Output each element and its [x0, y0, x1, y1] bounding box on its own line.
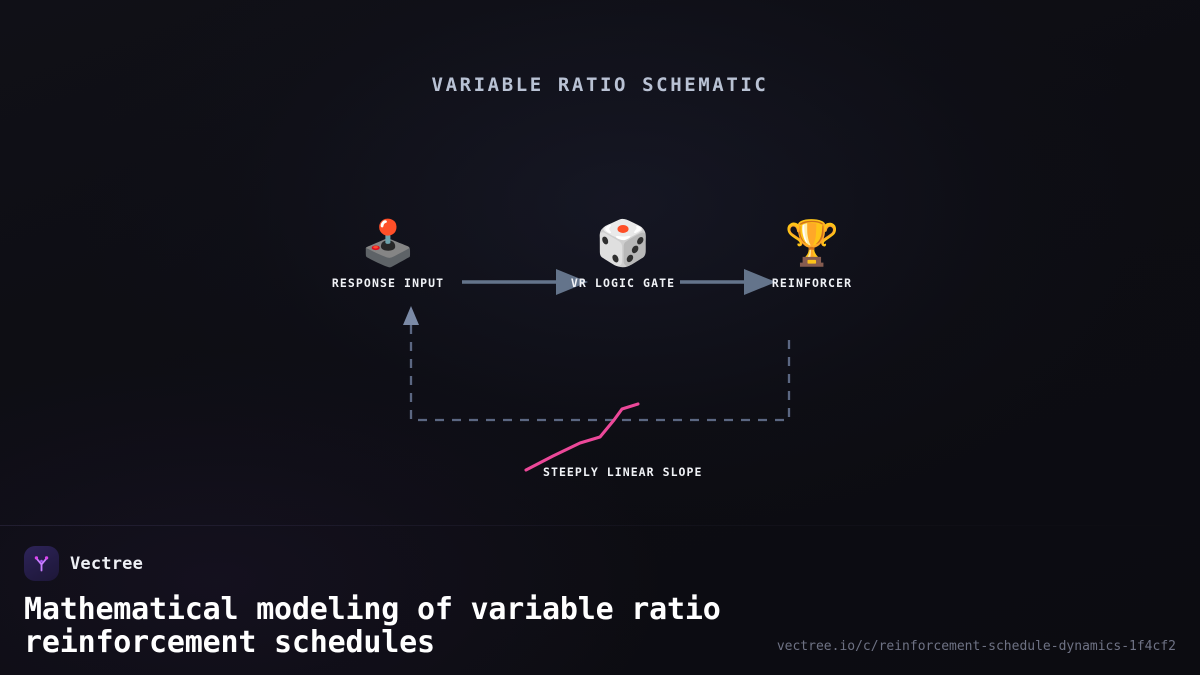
page-title: Mathematical modeling of variable ratio …: [24, 593, 753, 659]
joystick-icon: 🕹️: [303, 216, 473, 272]
steep-slope-label: STEEPLY LINEAR SLOPE: [543, 465, 702, 479]
vectree-tree-logo: [24, 546, 59, 581]
flow-node-label-reinforcer: REINFORCER: [727, 276, 897, 290]
footer-divider: [0, 525, 1200, 526]
game-die-icon: 🎲: [538, 216, 708, 272]
brand-row: Vectree: [24, 546, 1176, 581]
flow-node-label-response-input: RESPONSE INPUT: [303, 276, 473, 290]
flow-node-reinforcer[interactable]: 🏆 REINFORCER: [727, 216, 897, 290]
flow-node-label-vr-logic-gate: VR LOGIC GATE: [538, 276, 708, 290]
feedback-loop-path: [403, 306, 789, 420]
flow-node-response-input[interactable]: 🕹️ RESPONSE INPUT: [303, 216, 473, 290]
footer: Vectree Mathematical modeling of variabl…: [24, 546, 1176, 659]
brand-name: Vectree: [70, 554, 143, 574]
footer-url: vectree.io/c/reinforcement-schedule-dyna…: [777, 639, 1176, 659]
flow-node-vr-logic-gate[interactable]: 🎲 VR LOGIC GATE: [538, 216, 708, 290]
trophy-icon: 🏆: [727, 216, 897, 272]
og-card-canvas: VARIABLE RATIO SCHEMATIC 🕹️ RESPONSE INP…: [0, 0, 1200, 675]
steep-slope-curve: [526, 404, 638, 470]
headline-row: Mathematical modeling of variable ratio …: [24, 593, 1176, 659]
